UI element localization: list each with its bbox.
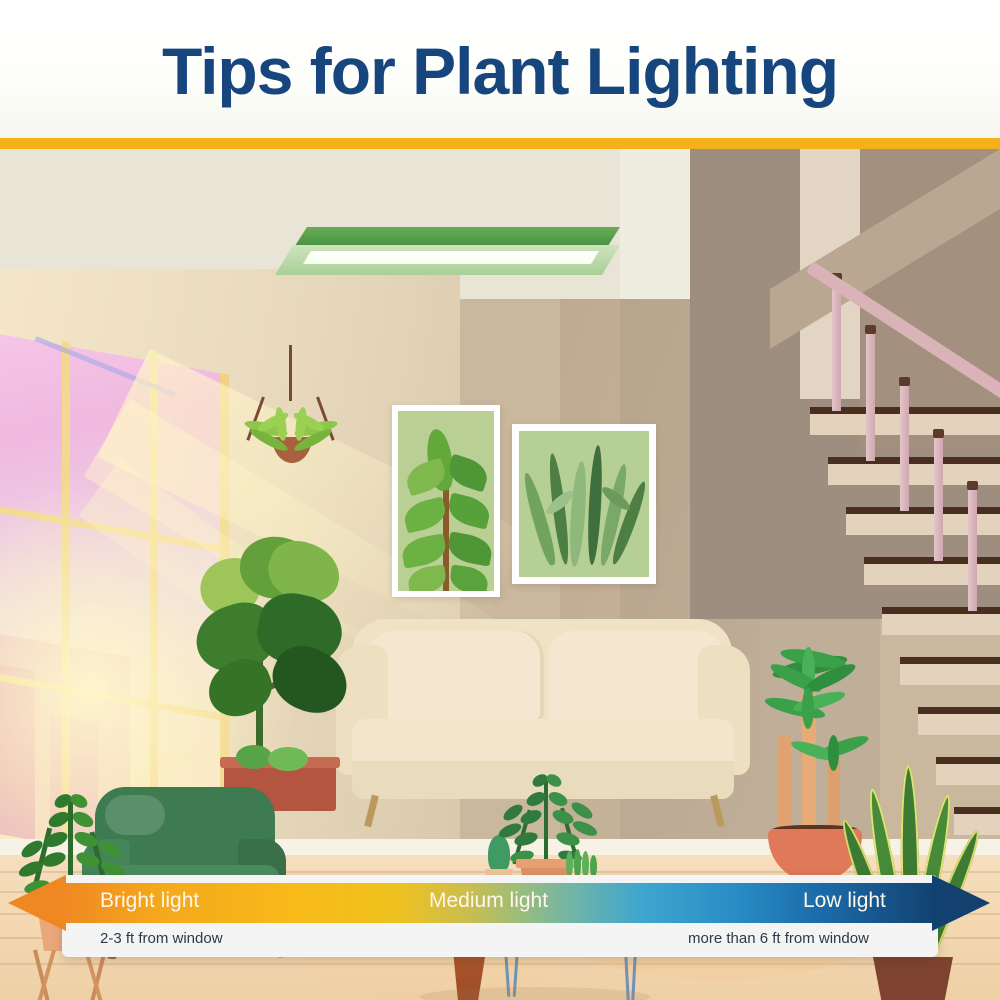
art-leaf [401, 496, 449, 533]
stair-baluster-cap [865, 325, 876, 334]
monstera-plant [172, 509, 362, 809]
furniture-shadow [420, 987, 650, 1000]
legend-label-medium: Medium light [429, 889, 548, 913]
art-leaf [400, 533, 448, 568]
stair-nosing [900, 657, 1000, 664]
stair-baluster-cap [899, 377, 910, 386]
stair-nosing [918, 707, 1000, 714]
legend-sub-bright: 2-3 ft from window [100, 930, 223, 947]
stair-baluster-cap [933, 429, 944, 438]
wall-art-right [512, 424, 656, 584]
stair-baluster [832, 279, 841, 411]
art-leaf [445, 492, 493, 529]
stair-baluster [968, 487, 977, 611]
stair-baluster [934, 435, 943, 561]
palm-frond [802, 687, 814, 729]
monstera-ball [268, 747, 308, 771]
ceiling-grow-light [275, 227, 620, 279]
stair-nosing [864, 557, 1000, 564]
palm-frond [828, 735, 839, 771]
hanging-spider-plant [248, 345, 334, 475]
stair-nosing [828, 457, 1000, 464]
stair-nosing [882, 607, 1000, 614]
wall-art-left-canvas [398, 411, 494, 591]
art-leaf [445, 454, 492, 493]
monstera-ball [236, 745, 272, 769]
stair-baluster [900, 383, 909, 511]
stair-baluster [866, 331, 875, 461]
tt-leaf [546, 789, 569, 809]
succulent-leaf [582, 851, 589, 878]
wall-art-left [392, 405, 500, 597]
grow-light-glow [303, 251, 599, 264]
page-header: Tips for Plant Lighting [0, 0, 1000, 138]
snake-plant-pot [873, 957, 953, 1000]
zz-leaf [17, 858, 46, 880]
legend-label-bright: Bright light [100, 889, 199, 913]
art-leaf [446, 531, 494, 566]
art-blade [567, 461, 588, 568]
living-room-illustration [0, 149, 1000, 1000]
art-leaf [406, 564, 447, 591]
hanger-cord [289, 345, 292, 401]
stair-baluster-cap [967, 481, 978, 490]
infographic-page: Tips for Plant Lighting [0, 0, 1000, 1000]
tt-leaf [555, 830, 581, 848]
sofa-cushion [368, 631, 544, 721]
palm-trunk [778, 735, 791, 835]
zz-leaf [70, 809, 95, 830]
succulent-leaf [566, 851, 573, 877]
header-divider [0, 138, 1000, 149]
art-leaf [448, 564, 489, 591]
legend-label-low: Low light [803, 889, 886, 913]
legend-sub-low: more than 6 ft from window [688, 930, 869, 947]
wall-art-right-canvas [519, 431, 649, 577]
page-title: Tips for Plant Lighting [162, 38, 838, 104]
